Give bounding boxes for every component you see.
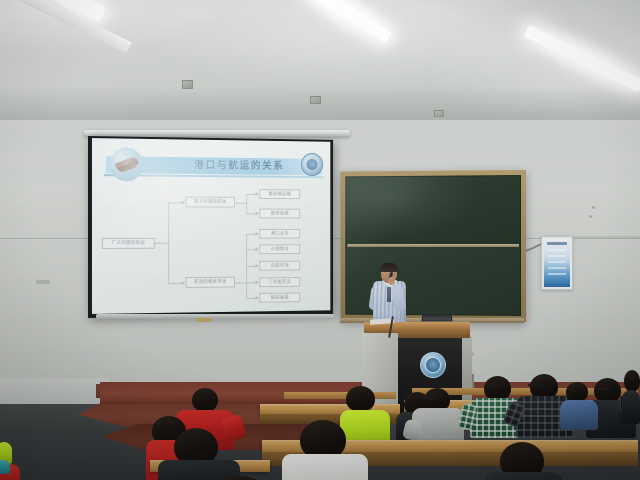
projected-slide: 港口与航运的关系 广义的国际航运 狭义的国际航运 [92,138,330,314]
notice-line [548,267,566,269]
tree-root-node: 广义的国际航运 [102,238,155,249]
ceiling-vent-1 [182,80,193,89]
projection-screen-weight [196,318,212,322]
notice-line [548,255,566,257]
wall-notice-poster[interactable] [541,236,573,290]
lectern-desktop-edge [398,331,470,338]
notice-line [548,273,566,275]
tree-branch-1: 狭义的国际航运 [186,197,235,208]
pull-down-projection-screen[interactable]: 港口与航运的关系 广义的国际航运 狭义的国际航运 [88,136,333,318]
tree-leaf-1-1: 集装箱运输 [259,189,300,199]
tree-leaf-2-4: 二手船买卖 [259,277,300,287]
speaker-hand [388,277,395,285]
slide-tree-diagram: 广义的国际航运 狭义的国际航运 集装箱运输 散货运输 [102,188,326,302]
notice-line [548,249,566,251]
blackboard-center-rail [347,244,519,247]
wall-fixture-dot [592,206,595,209]
slide-title: 港口与航运的关系 [168,158,309,174]
tree-leaf-2-3: 造船市场 [259,261,300,271]
wall-base-left [0,378,110,404]
projection-screen-bottom-bar [96,314,334,319]
university-seal-icon [301,153,323,176]
tree-leaf-2-2: 仓储物流 [259,244,300,254]
tree-branch-2: 航运的相关市场 [186,277,235,288]
notice-header [547,242,567,245]
ceiling-vent-2 [310,96,321,104]
wall-scuff-mark [36,280,50,284]
tree-leaf-2-5: 船舶金融 [259,292,300,302]
notice-line [548,261,566,263]
blackboard-upper-panel[interactable] [345,175,521,245]
notice-body [544,239,570,287]
ship-graphic-logo-icon [110,147,143,181]
laptop[interactable] [421,314,452,321]
bench-row-2-left[interactable] [284,392,396,399]
lecture-hall-photo: 港口与航运的关系 广义的国际航运 狭义的国际航运 [0,0,640,480]
ceiling-vent-3 [434,110,444,117]
tree-leaf-2-1: 港口业务 [259,229,300,239]
university-emblem-icon [420,352,446,378]
wall-fixture-dot-2 [589,215,592,218]
speaker-hair [380,263,398,272]
tree-leaf-1-2: 散货运输 [259,209,300,219]
